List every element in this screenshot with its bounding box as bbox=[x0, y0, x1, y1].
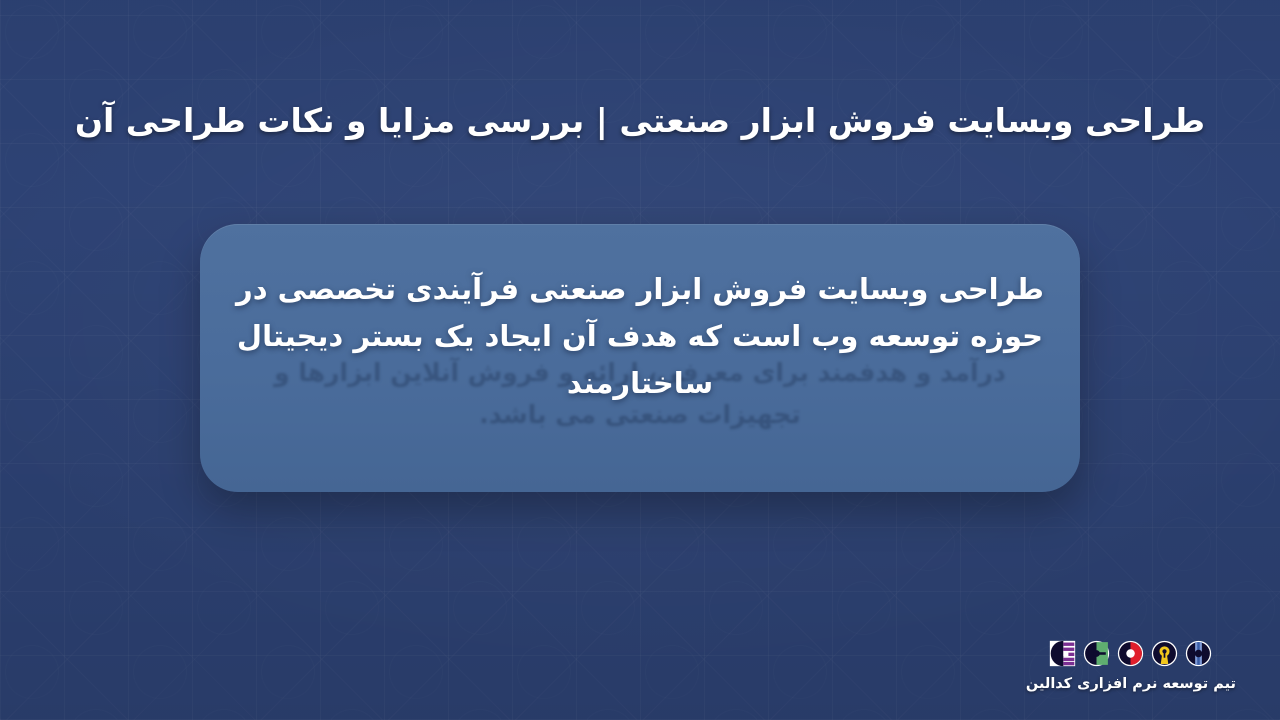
brand-name-label: تیم توسعه نرم افزاری کدالین bbox=[1026, 676, 1236, 692]
circle-bars-purple-icon bbox=[1049, 640, 1076, 667]
circle-split-green-icon bbox=[1083, 640, 1110, 667]
circle-keyhole-gold-icon bbox=[1151, 640, 1178, 667]
brand-logo bbox=[1049, 640, 1212, 667]
page-title: طراحی وبسایت فروش ابزار صنعتی | بررسی مز… bbox=[0, 100, 1280, 141]
brand-footer: تیم توسعه نرم افزاری کدالین bbox=[1026, 640, 1236, 692]
card-main-text: طراحی وبسایت فروش ابزار صنعتی فرآیندی تخ… bbox=[200, 266, 1080, 407]
circle-split-red-icon bbox=[1117, 640, 1144, 667]
slide-canvas: طراحی وبسایت فروش ابزار صنعتی | بررسی مز… bbox=[0, 0, 1280, 720]
content-card: درآمد و هدفمند برای معرفی، ارائه و فروش … bbox=[200, 224, 1080, 492]
circle-split-blue-icon bbox=[1185, 640, 1212, 667]
